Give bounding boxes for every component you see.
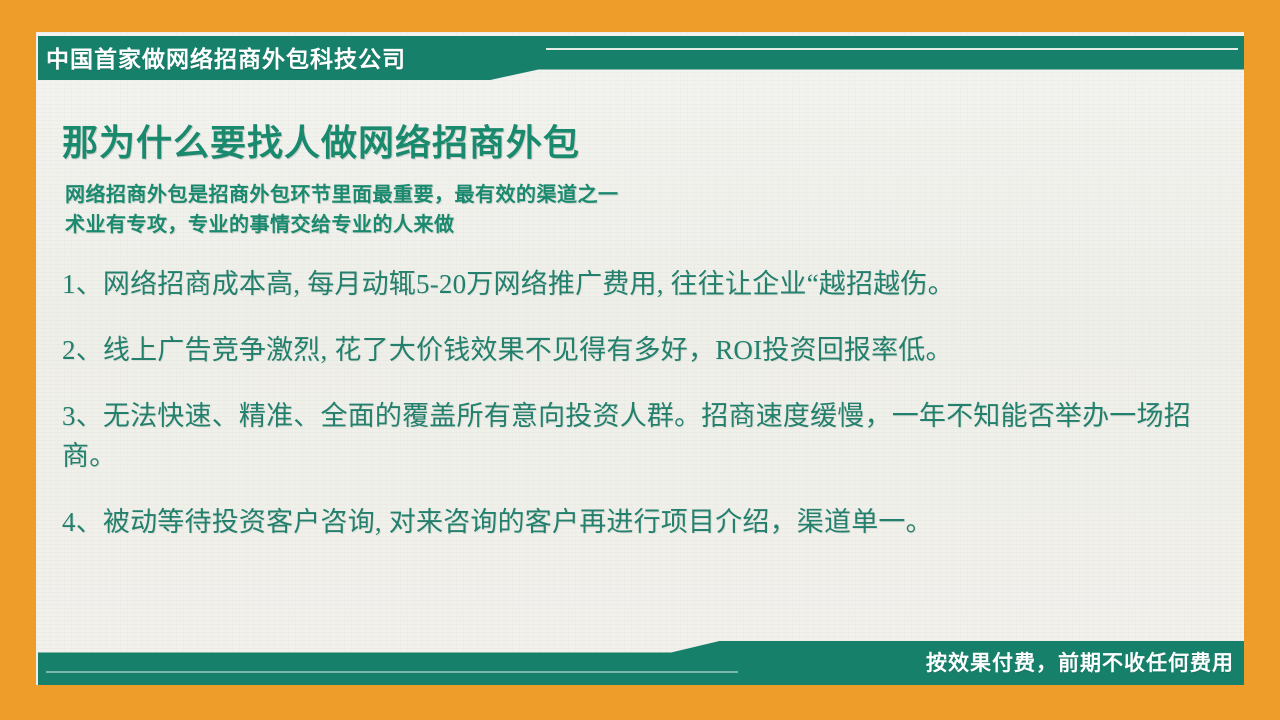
reason-list: 1、网络招商成本高, 每月动辄5-20万网络推广费用, 往往让企业“越招越伤。 …	[60, 264, 1220, 542]
header-divider-line	[546, 48, 1238, 50]
subheading-line-1: 网络招商外包是招商外包环节里面最重要，最有效的渠道之一	[65, 180, 1220, 210]
footer-tagline: 按效果付费，前期不收任何费用	[926, 646, 1234, 682]
list-item: 1、网络招商成本高, 每月动辄5-20万网络推广费用, 往往让企业“越招越伤。	[62, 264, 1220, 304]
slide-root: 中国首家做网络招商外包科技公司 那为什么要找人做网络招商外包 网络招商外包是招商…	[0, 0, 1280, 720]
list-item: 2、线上广告竞争激烈, 花了大价钱效果不见得有多好，ROI投资回报率低。	[62, 330, 1220, 370]
list-item: 3、无法快速、精准、全面的覆盖所有意向投资人群。招商速度缓慢，一年不知能否举办一…	[62, 396, 1220, 476]
subheading-line-2: 术业有专攻，专业的事情交给专业的人来做	[65, 210, 1220, 240]
list-item: 4、被动等待投资客户咨询, 对来咨询的客户再进行项目介绍，渠道单一。	[62, 502, 1220, 542]
subheading-group: 网络招商外包是招商外包环节里面最重要，最有效的渠道之一 术业有专攻，专业的事情交…	[60, 180, 1220, 240]
page-title: 那为什么要找人做网络招商外包	[62, 120, 1220, 166]
slide-content: 那为什么要找人做网络招商外包 网络招商外包是招商外包环节里面最重要，最有效的渠道…	[60, 120, 1220, 542]
header-title: 中国首家做网络招商外包科技公司	[46, 39, 406, 79]
footer-divider-line	[46, 671, 738, 673]
